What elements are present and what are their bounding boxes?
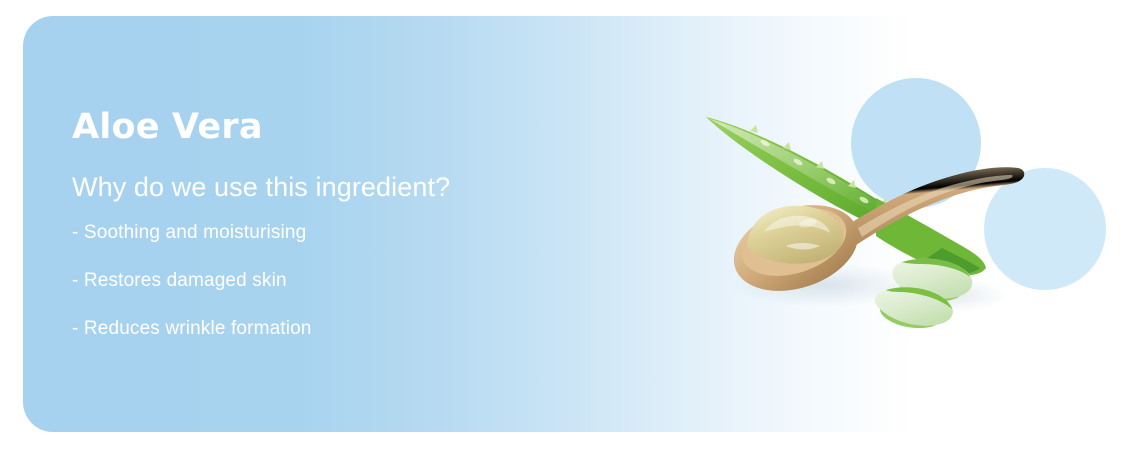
benefit-item: - Soothing and moisturising [72, 223, 592, 242]
subtitle: Why do we use this ingredient? [72, 173, 592, 201]
ingredient-banner: Aloe Vera Why do we use this ingredient?… [0, 0, 1125, 450]
benefit-item: - Reduces wrinkle formation [72, 319, 592, 338]
aloe-vera-spoon-photo [690, 80, 1050, 350]
benefit-item: - Restores damaged skin [72, 271, 592, 290]
page-title: Aloe Vera [72, 110, 592, 145]
text-block: Aloe Vera Why do we use this ingredient?… [72, 110, 592, 338]
